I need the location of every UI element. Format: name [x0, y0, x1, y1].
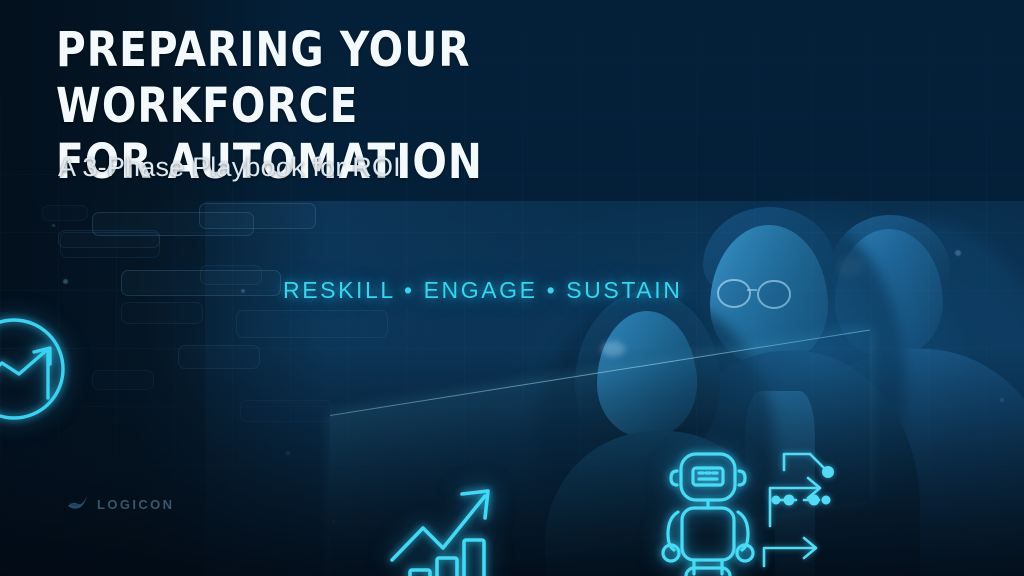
background-trace: [121, 302, 203, 324]
tagline: Reskill • Engage • Sustain: [283, 277, 682, 304]
page-subtitle: A 3-Phase Playbook for ROI: [58, 152, 401, 183]
brand-logo[interactable]: Logicon: [66, 494, 174, 514]
background-trace: [200, 265, 262, 285]
robot-hologram-icon: [648, 448, 768, 576]
background-spark: [63, 279, 68, 284]
swoosh-logo-icon: [66, 494, 90, 514]
background-trace: [199, 203, 316, 229]
process-flow-node-diagram-icon: [758, 448, 878, 576]
rising-trend-bar-chart-icon: [390, 478, 526, 576]
background-spark: [955, 250, 961, 256]
slide-canvas: Preparing Your Workforce for Automation …: [0, 0, 1024, 576]
background-spark: [241, 289, 245, 293]
background-trace: [42, 205, 88, 221]
background-trace: [236, 310, 388, 338]
brand-name: Logicon: [97, 497, 174, 512]
background-trace: [60, 232, 160, 258]
circular-growth-arrow-icon: [0, 306, 92, 432]
background-spark: [52, 224, 55, 227]
